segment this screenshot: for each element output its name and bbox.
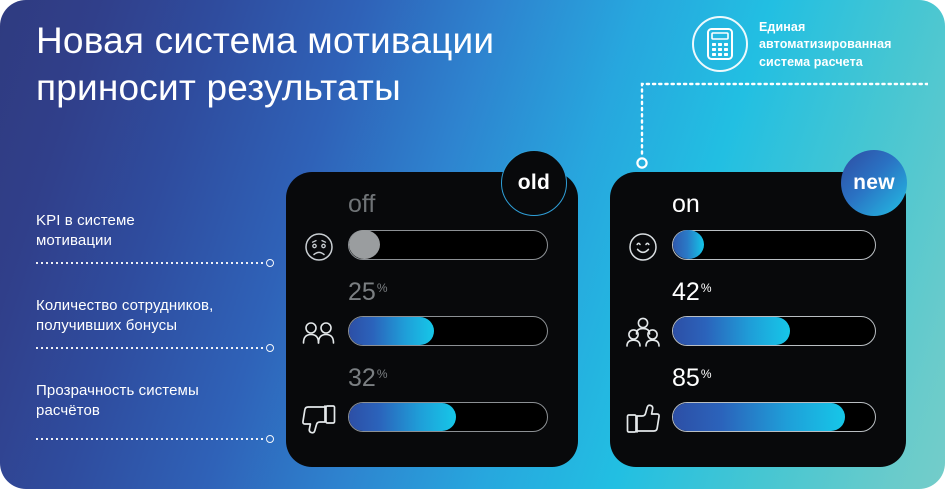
progress-fill bbox=[349, 403, 456, 431]
badge-new: new bbox=[841, 150, 907, 216]
progress-fill bbox=[673, 403, 845, 431]
progress-track-new-employees[interactable] bbox=[672, 316, 876, 346]
progress-track-old-transparency[interactable] bbox=[348, 402, 548, 432]
toggle-knob-old[interactable] bbox=[349, 230, 380, 259]
row-old-employees: 25 % bbox=[286, 280, 578, 370]
two-people-icon bbox=[300, 316, 338, 350]
badge-old: old bbox=[501, 150, 567, 216]
metric-label-kpi: KPI в системе мотивации bbox=[36, 211, 286, 252]
infographic-canvas: Новая система мотивации приносит результ… bbox=[0, 0, 945, 489]
toggle-track-old[interactable] bbox=[348, 230, 548, 260]
metric-label-employees: Количество сотрудников, получивших бонус… bbox=[36, 296, 286, 337]
progress-track-new-transparency[interactable] bbox=[672, 402, 876, 432]
calculator-icon bbox=[692, 16, 748, 72]
toggle-state-new: on bbox=[672, 192, 700, 217]
progress-fill bbox=[673, 317, 790, 345]
row-new-transparency: 85 % bbox=[610, 366, 906, 456]
dotted-line bbox=[36, 438, 264, 440]
metric-label-transparency: Прозрачность системы расчётов bbox=[36, 381, 286, 422]
panel-new: on 42 % bbox=[610, 172, 906, 467]
value-old-transparency: 32 % bbox=[348, 366, 387, 391]
progress-fill bbox=[349, 317, 434, 345]
connector-endpoint bbox=[266, 344, 274, 352]
connector-endpoint bbox=[266, 435, 274, 443]
connector-dots-kpi bbox=[36, 258, 274, 267]
row-new-employees: 42 % bbox=[610, 280, 906, 370]
connector-dots-transparency bbox=[36, 434, 274, 443]
three-people-icon bbox=[624, 316, 662, 350]
panel-old: off 25 % bbox=[286, 172, 578, 467]
thumbs-down-icon bbox=[300, 402, 338, 436]
value-new-transparency: 85 % bbox=[672, 366, 711, 391]
automated-system-label: Единая автоматизированная система расчет… bbox=[759, 16, 892, 71]
toggle-track-new[interactable] bbox=[672, 230, 876, 260]
value-new-employees: 42 % bbox=[672, 280, 711, 305]
dotted-line bbox=[36, 262, 264, 264]
automated-system-badge: Единая автоматизированная система расчет… bbox=[692, 16, 892, 72]
value-old-employees: 25 % bbox=[348, 280, 387, 305]
connector-dots-employees bbox=[36, 343, 274, 352]
dotted-line bbox=[36, 347, 264, 349]
progress-track-old-employees[interactable] bbox=[348, 316, 548, 346]
row-old-transparency: 32 % bbox=[286, 366, 578, 456]
page-title: Новая система мотивации приносит результ… bbox=[36, 18, 636, 112]
toggle-state-old: off bbox=[348, 192, 375, 217]
sad-face-icon bbox=[300, 230, 338, 264]
toggle-knob-new[interactable] bbox=[673, 230, 704, 259]
connector-endpoint bbox=[266, 259, 274, 267]
happy-face-icon bbox=[624, 230, 662, 264]
thumbs-up-icon bbox=[624, 402, 662, 436]
